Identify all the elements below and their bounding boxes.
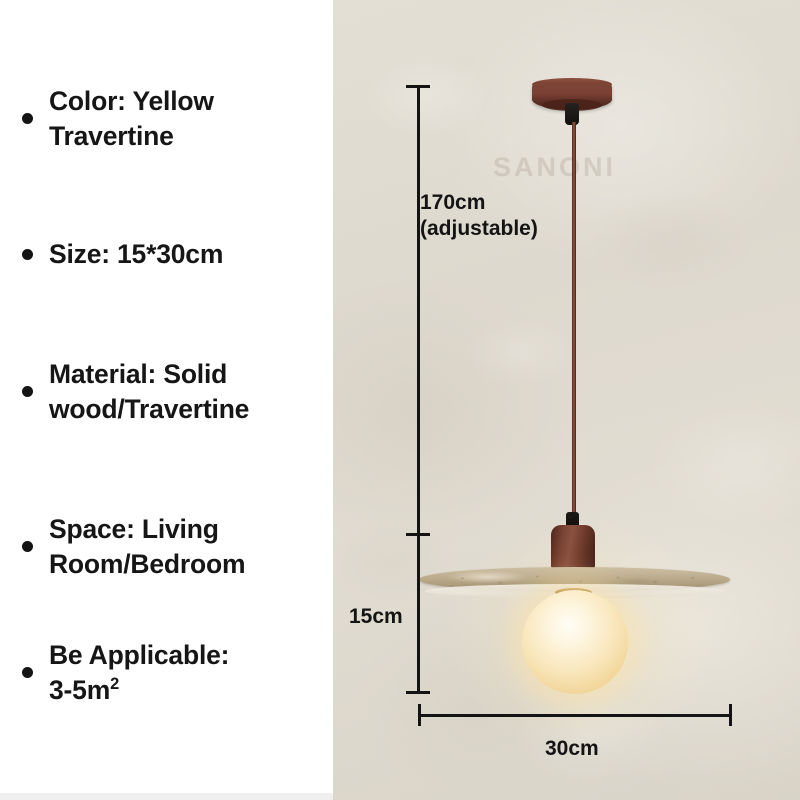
spec-label-applicable: Be Applicable: 3-5m2 bbox=[49, 638, 229, 708]
drop-dimension-label: 170cm (adjustable) bbox=[420, 190, 538, 241]
spec-label-space: Space: Living Room/Bedroom bbox=[49, 512, 245, 582]
height-dimension-line bbox=[417, 536, 420, 694]
bullet-icon bbox=[22, 113, 33, 124]
spec-item-material: Material: Solid wood/Travertine bbox=[14, 357, 334, 427]
spec-panel: Color: Yellow Travertine Size: 15*30cm M… bbox=[0, 0, 333, 800]
spec-list: Color: Yellow Travertine Size: 15*30cm M… bbox=[0, 0, 333, 800]
lamp-socket-housing bbox=[551, 525, 595, 569]
globe-bulb bbox=[522, 590, 628, 694]
suspension-cord bbox=[572, 122, 576, 516]
width-dimension-line bbox=[419, 714, 731, 717]
width-dimension-right-tick bbox=[729, 704, 732, 726]
spec-item-color: Color: Yellow Travertine bbox=[14, 84, 334, 154]
height-dimension-bottom-tick bbox=[406, 691, 430, 694]
product-spec-image: SANONI 170cm (adjustable) 15cm 30cm Colo… bbox=[0, 0, 800, 800]
spec-label-applicable-main: Be Applicable: 3-5m bbox=[49, 640, 229, 705]
panel-bottom-band bbox=[0, 793, 333, 800]
square-meter-superscript: 2 bbox=[110, 675, 119, 693]
bullet-icon bbox=[22, 667, 33, 678]
bullet-icon bbox=[22, 541, 33, 552]
spec-label-color: Color: Yellow Travertine bbox=[49, 84, 214, 154]
bullet-icon bbox=[22, 249, 33, 260]
height-dimension-label: 15cm bbox=[349, 604, 403, 630]
spec-item-space: Space: Living Room/Bedroom bbox=[14, 512, 334, 582]
spec-item-size: Size: 15*30cm bbox=[14, 237, 334, 272]
product-photo: SANONI bbox=[333, 0, 800, 800]
drop-dimension-line bbox=[417, 86, 420, 536]
width-dimension-label: 30cm bbox=[545, 736, 599, 762]
spec-label-size: Size: 15*30cm bbox=[49, 237, 223, 272]
bullet-icon bbox=[22, 386, 33, 397]
watermark-text: SANONI bbox=[493, 152, 616, 183]
spec-label-material: Material: Solid wood/Travertine bbox=[49, 357, 249, 427]
spec-item-applicable: Be Applicable: 3-5m2 bbox=[14, 638, 334, 708]
